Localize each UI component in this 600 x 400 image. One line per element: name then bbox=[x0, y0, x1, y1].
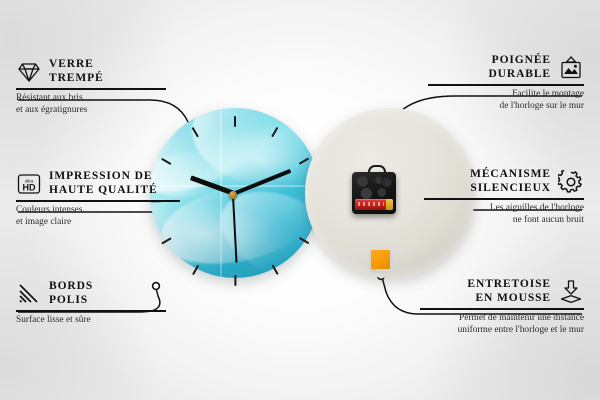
infographic-canvas: VERRE TREMPÉ Résistant aux bris et aux é… bbox=[0, 0, 600, 400]
callout-desc-line-1: Facilite le montage bbox=[428, 89, 584, 100]
callout-desc-line-1: Permet de maintenir une distance bbox=[420, 313, 584, 324]
foam-spacer bbox=[371, 250, 390, 269]
picture-hanger-icon bbox=[558, 55, 584, 81]
callout-desc-line-2: et image claire bbox=[16, 217, 180, 228]
callout-divider bbox=[16, 310, 166, 312]
callout-verre-trempe: VERRE TREMPÉ Résistant aux bris et aux é… bbox=[16, 58, 166, 116]
callout-desc-line-2: et aux égratignures bbox=[16, 105, 166, 116]
gear-icon bbox=[558, 169, 584, 195]
callout-desc-line-2: de l'horloge sur le mur bbox=[428, 101, 584, 112]
callout-title-line-2: EN MOUSSE bbox=[467, 292, 551, 306]
callout-title-line-1: POIGNÉE bbox=[488, 54, 551, 68]
callout-bords-polis: BORDS POLIS Surface lisse et sûre bbox=[16, 280, 166, 327]
callout-desc-line-2: ne font aucun bruit bbox=[424, 215, 584, 226]
callout-desc-line-1: Surface lisse et sûre bbox=[16, 315, 166, 326]
callout-title-line-2: DURABLE bbox=[488, 68, 551, 82]
callout-impression-haute-qualite: ultra HD IMPRESSION DE HAUTE QUALITÉ Cou… bbox=[16, 170, 180, 228]
callout-entretoise-en-mousse: ENTRETOISE EN MOUSSE Permet de maintenir… bbox=[420, 278, 584, 336]
battery bbox=[355, 199, 393, 210]
callout-divider bbox=[424, 198, 584, 200]
callout-title-line-1: ENTRETOISE bbox=[467, 278, 551, 292]
callout-mecanisme-silencieux: MÉCANISME SILENCIEUX Les aiguilles de l'… bbox=[424, 168, 584, 226]
callout-title-line-2: TREMPÉ bbox=[49, 72, 104, 86]
callout-divider bbox=[16, 88, 166, 90]
callout-title-line-2: HAUTE QUALITÉ bbox=[49, 184, 158, 198]
callout-divider bbox=[16, 200, 180, 202]
callout-divider bbox=[428, 84, 584, 86]
mechanism-detail bbox=[355, 175, 393, 200]
clock-center-cap bbox=[229, 191, 237, 199]
diamond-icon bbox=[16, 59, 42, 85]
ultra-hd-icon: ultra HD bbox=[16, 171, 42, 197]
callout-title-line-1: IMPRESSION DE bbox=[49, 170, 158, 184]
callout-title-line-2: SILENCIEUX bbox=[470, 182, 551, 196]
callout-desc-line-1: Résistant aux bris bbox=[16, 93, 166, 104]
svg-text:HD: HD bbox=[23, 182, 36, 192]
callout-desc-line-2: uniforme entre l'horloge et le mur bbox=[420, 325, 584, 336]
callout-title-line-1: MÉCANISME bbox=[470, 168, 551, 182]
callout-poignee-durable: POIGNÉE DURABLE Facilite le montage de l… bbox=[428, 54, 584, 112]
foam-spacer-icon bbox=[558, 279, 584, 305]
callout-desc-line-1: Couleurs intenses bbox=[16, 205, 180, 216]
battery-terminal bbox=[386, 199, 393, 210]
callout-title-line-2: POLIS bbox=[49, 294, 93, 308]
polished-edges-icon bbox=[16, 281, 42, 307]
callout-title-line-1: BORDS bbox=[49, 280, 93, 294]
callout-title-line-1: VERRE bbox=[49, 58, 104, 72]
callout-desc-line-1: Les aiguilles de l'horloge bbox=[424, 203, 584, 214]
callout-divider bbox=[420, 308, 584, 310]
battery-label bbox=[358, 202, 384, 206]
